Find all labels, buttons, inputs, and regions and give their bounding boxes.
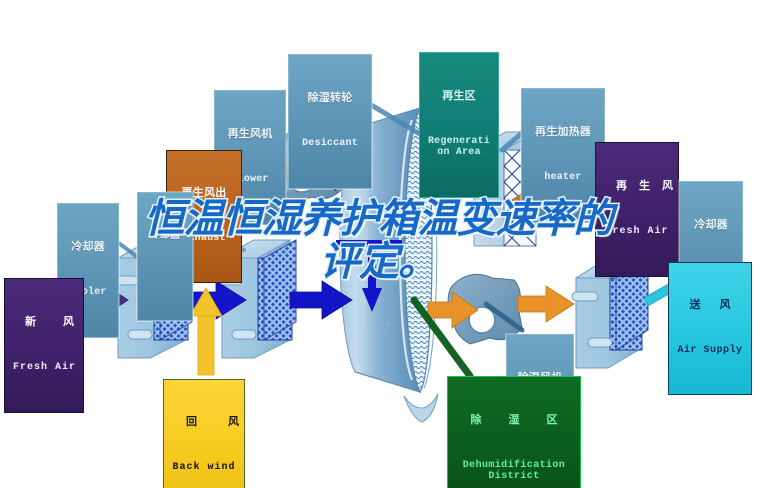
label-desiccant-wheel[interactable]: 除湿转轮 Desiccant — [288, 54, 372, 189]
label-fresh-air-in-cn: 新 风 — [13, 317, 75, 329]
blower-out-arrow — [518, 286, 574, 322]
label-regeneration-fresh-air-cn: 再生风进 — [604, 181, 670, 193]
label-fresh-air-in[interactable]: 新 风 Fresh Air — [4, 278, 84, 413]
label-back-wind-cn: 回 风 — [172, 417, 236, 429]
label-regeneration-fresh-air-en: Fresh Air — [604, 227, 670, 238]
label-cooler-mid[interactable]: 冷却器 — [137, 192, 193, 321]
label-air-supply-cn: 送 风 — [674, 300, 746, 312]
label-fresh-air-in-en: Fresh Air — [13, 363, 75, 374]
label-air-supply[interactable]: 送 风 Air Supply — [668, 262, 752, 395]
label-dehumidification-district-en: Dehumidification District — [456, 461, 572, 483]
label-back-wind-en: Back wind — [172, 463, 236, 474]
label-regeneration-area-en: Regenerati on Area — [426, 137, 492, 159]
label-desiccant-wheel-cn: 除湿转轮 — [294, 93, 366, 105]
label-regeneration-heater-en: heater — [527, 173, 599, 184]
label-regeneration-blower-cn: 再生风机 — [220, 129, 280, 141]
label-air-supply-en: Air Supply — [674, 346, 746, 357]
label-regeneration-heater-cn: 再生加热器 — [527, 127, 599, 139]
label-cooler-mid-cn: 冷却器 — [143, 231, 187, 242]
label-back-wind[interactable]: 回 风 Back wind — [163, 379, 245, 488]
label-dehumidification-district[interactable]: 除 湿 区 Dehumidification District — [447, 376, 581, 488]
wheel-face-text: XT — [378, 321, 392, 333]
label-regeneration-area-cn: 再生区 — [426, 91, 492, 103]
label-desiccant-wheel-en: Desiccant — [294, 139, 366, 150]
label-cooler-left-cn: 冷却器 — [63, 242, 113, 254]
label-regeneration-fresh-air[interactable]: 再生风进 Fresh Air — [595, 142, 679, 277]
label-cooler-right-cn: 冷却器 — [685, 220, 737, 232]
dehumidifier-diagram: XT — [0, 0, 757, 488]
label-regeneration-heater[interactable]: 再生加热器 heater — [521, 88, 605, 223]
label-regeneration-area[interactable]: 再生区 Regenerati on Area — [419, 52, 499, 198]
label-dehumidification-district-cn: 除 湿 区 — [456, 415, 572, 427]
